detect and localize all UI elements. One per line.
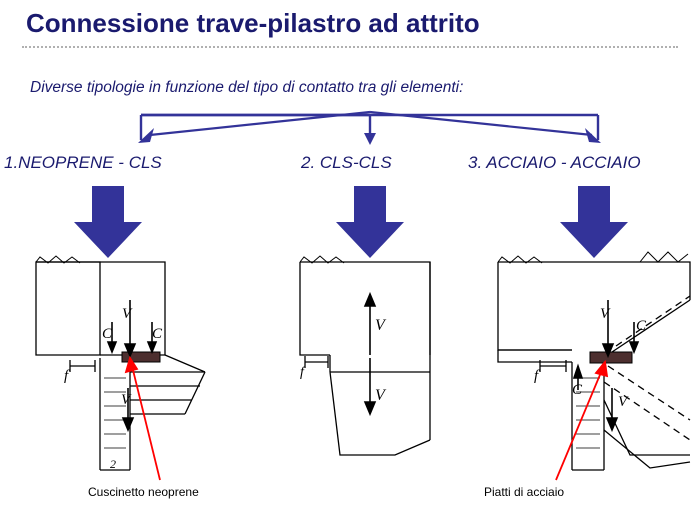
- label-C1: C: [102, 326, 113, 342]
- figure-3: [498, 252, 690, 470]
- down-arrow-1: [74, 186, 142, 258]
- label-V-down: V: [375, 387, 387, 404]
- label-V: V: [600, 306, 611, 322]
- label-V2: V: [618, 394, 629, 410]
- label-V-up: V: [375, 317, 387, 334]
- figure-1: [36, 256, 205, 470]
- label-2: 2: [110, 457, 116, 471]
- down-arrow-2: [336, 186, 404, 258]
- label-V: V: [122, 306, 133, 322]
- slide-canvas: Connessione trave-pilastro ad attrito Di…: [0, 0, 700, 525]
- figure-1-force-labels: V C C f V 2: [64, 306, 163, 471]
- diagram-overlay: V C C f V 2 V V: [0, 0, 700, 525]
- figure-2-forces: [365, 294, 375, 414]
- figure-2-force-labels: V V f: [300, 317, 387, 404]
- label-C2: C: [572, 382, 583, 398]
- label-C2: C: [152, 326, 163, 342]
- down-arrow-3: [560, 186, 628, 258]
- label-C1: C: [636, 318, 647, 334]
- figure-2: [300, 256, 430, 455]
- label-f: f: [534, 368, 540, 384]
- pointer-line-acciaio: [556, 362, 607, 480]
- label-f: f: [64, 368, 70, 384]
